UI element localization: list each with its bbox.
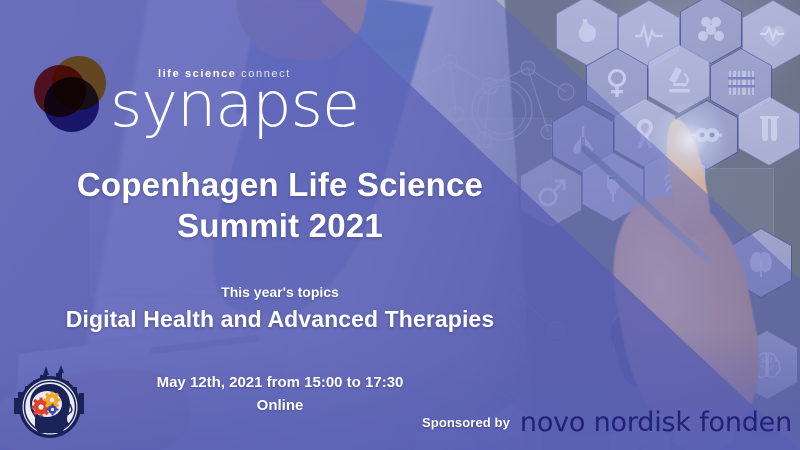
topics-label: This year's topics [0, 284, 560, 300]
logo-circle-blue [44, 77, 99, 132]
headline-line-2: Summit 2021 [0, 205, 560, 246]
sponsor-block: Sponsored by novo nordisk fonden [422, 409, 792, 436]
sponsor-prefix: Sponsored by [422, 415, 510, 430]
copenhagen-life-science-summit-emblem[interactable] [8, 362, 92, 446]
headline-line-1: Copenhagen Life Science [0, 164, 560, 205]
topics-value: Digital Health and Advanced Therapies [0, 306, 560, 333]
event-banner: life science connect synapse Copenhagen … [0, 0, 800, 450]
synapse-logo[interactable]: life science connect synapse [28, 52, 328, 148]
emblem-artwork [8, 362, 92, 446]
logo-wordmark: synapse [110, 74, 359, 136]
page-title: Copenhagen Life Science Summit 2021 [0, 164, 560, 247]
sponsor-name: novo nordisk fonden [520, 409, 792, 436]
